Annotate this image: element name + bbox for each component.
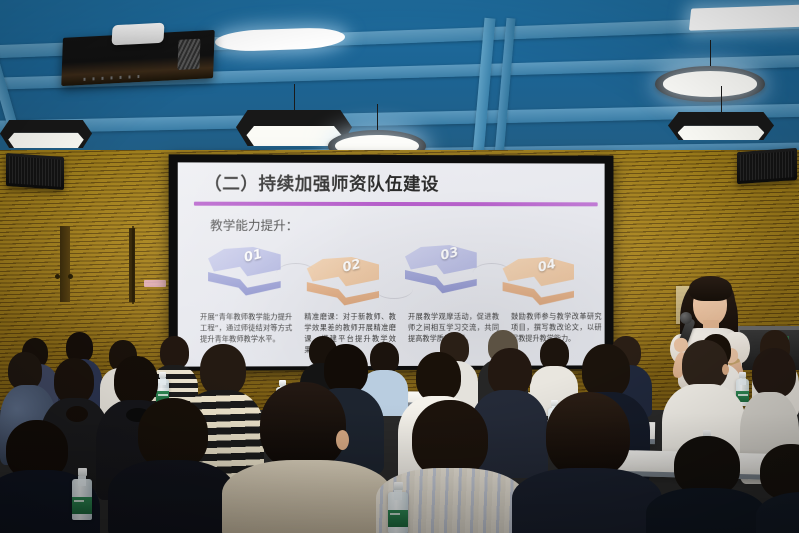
bottle-label — [388, 510, 408, 527]
person-body — [222, 460, 392, 533]
lamp-glow — [663, 71, 758, 96]
conference-room-photo: （二）持续加强师资队伍建设 教学能力提升： 01 02 — [0, 0, 799, 533]
lamp-shade — [0, 120, 92, 148]
projection-screen: （二）持续加强师资队伍建设 教学能力提升： 01 02 — [178, 162, 605, 366]
block-side-face — [405, 267, 477, 297]
person-head-balding — [682, 340, 728, 390]
step-block-04: 04 — [503, 257, 574, 313]
lamp-glow — [678, 126, 765, 142]
person-body — [646, 488, 766, 533]
person-head — [488, 348, 532, 396]
pendant-light-round — [655, 66, 765, 102]
cabinet-knob-icon[interactable] — [55, 274, 60, 279]
audience-person-foreground — [756, 444, 799, 533]
wall-speaker-right — [737, 148, 797, 184]
projector-lens-icon — [177, 39, 200, 70]
step-block-02: 02 — [307, 257, 379, 313]
lamp-cord — [710, 40, 711, 66]
person-ear — [722, 364, 729, 375]
person-body — [756, 492, 799, 533]
wifi-access-point — [112, 23, 165, 46]
person-head — [416, 352, 461, 402]
audience-person-foreground — [108, 398, 236, 533]
pendant-light-hex — [0, 120, 92, 148]
cabinet-knob-icon[interactable] — [68, 274, 73, 279]
wall-sign — [144, 280, 166, 287]
slide-divider — [194, 202, 598, 207]
lamp-glow — [8, 133, 83, 149]
pendant-light-hex — [668, 112, 774, 140]
block-side-face — [503, 279, 574, 309]
microphone-head-icon — [680, 312, 692, 324]
recessed-panel-light-icon — [689, 3, 799, 30]
step-block-03: 03 — [405, 245, 477, 301]
person-head — [582, 344, 630, 398]
slide-title: （二）持续加强师资队伍建设 — [204, 170, 439, 196]
lamp-shade — [668, 112, 774, 140]
speaker-mesh-icon — [9, 156, 61, 187]
bottle-cap — [394, 482, 403, 490]
block-side-face — [208, 269, 281, 299]
person-body — [512, 468, 662, 533]
block-side-face — [307, 279, 379, 309]
presenter-hair-top — [689, 276, 732, 301]
person-head — [260, 382, 346, 470]
person-head — [412, 400, 488, 478]
lamp-cord — [721, 86, 722, 112]
water-bottle[interactable] — [72, 468, 92, 520]
wall-seam — [132, 226, 134, 304]
audience-person-foreground — [646, 436, 766, 533]
audience-person-foreground — [222, 382, 392, 533]
wall-speaker-left — [6, 153, 64, 190]
person-head — [674, 436, 740, 496]
step-block-01: 01 — [208, 247, 281, 303]
water-bottle[interactable] — [388, 482, 408, 533]
projector-vents — [83, 75, 139, 81]
slide-step-diagram: 01 02 03 04 — [202, 245, 600, 307]
wall-cabinet-edge — [60, 226, 70, 302]
lamp-cord — [294, 84, 295, 110]
lamp-cord — [377, 104, 378, 130]
recessed-panel-light-icon — [214, 27, 347, 53]
ceiling — [0, 0, 799, 160]
bottle-neck — [78, 476, 86, 486]
person-ear — [336, 430, 349, 450]
bottle-cap — [78, 468, 87, 476]
bottle-neck — [394, 490, 402, 500]
person-head — [752, 348, 796, 398]
person-body — [108, 460, 236, 533]
audience-person-foreground — [512, 392, 662, 533]
speaker-mesh-icon — [740, 151, 794, 181]
bottle-label — [72, 497, 92, 514]
lamp-shade — [655, 66, 765, 102]
person-head — [546, 392, 630, 478]
slide-subtitle: 教学能力提升： — [210, 215, 298, 234]
